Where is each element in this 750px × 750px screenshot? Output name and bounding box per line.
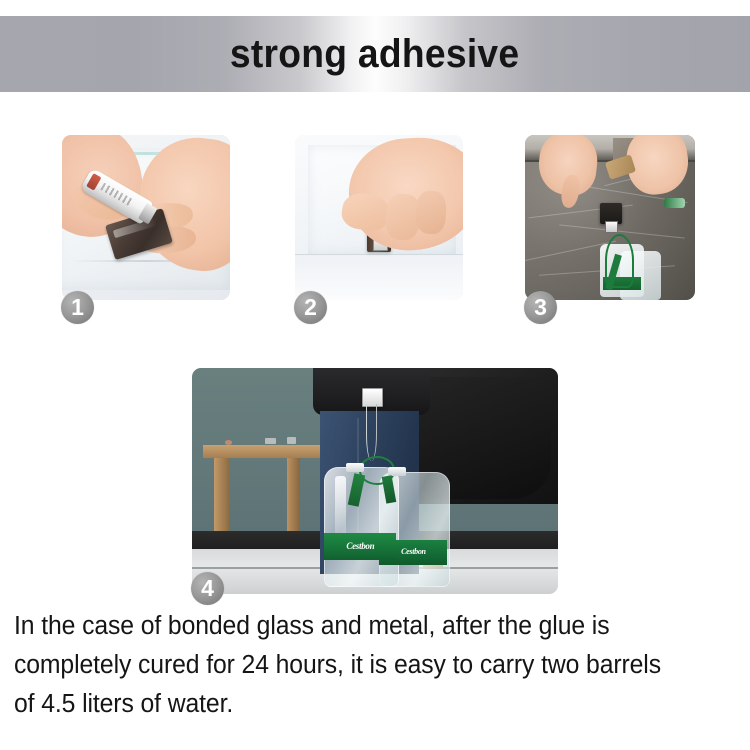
description-text: In the case of bonded glass and metal, a… [14, 607, 716, 724]
bottle-label-1: Cestbon [324, 533, 396, 560]
table-leg-2 [287, 458, 300, 530]
description-line-1: In the case of bonded glass and metal, a… [14, 607, 716, 646]
step-photo-3 [525, 135, 695, 300]
step-photo-1 [62, 135, 230, 300]
step-badge-1: 1 [61, 291, 94, 324]
step-3-image [525, 135, 695, 300]
step-4-image: Cestbon Cestbon [192, 368, 558, 594]
bottle-brand-text-1: Cestbon [346, 542, 374, 551]
step-photo-4: Cestbon Cestbon [192, 368, 558, 594]
step-badge-4: 4 [191, 572, 224, 605]
step-badge-2: 2 [294, 291, 327, 324]
finger-3 [415, 191, 447, 235]
wooden-table-top [203, 445, 324, 459]
step-1-image [62, 135, 230, 300]
step-badge-3: 3 [524, 291, 557, 324]
table-item-1 [265, 438, 276, 444]
glue-tube-stripe [86, 174, 101, 191]
step-2-image [295, 135, 463, 300]
table-item-2 [287, 437, 296, 444]
hook-plate [605, 221, 618, 233]
description-line-3: of 4.5 liters of water. [14, 685, 716, 724]
table-item-3 [225, 440, 232, 445]
bottle-brand-text-2: Cestbon [401, 548, 426, 556]
header-banner: strong adhesive [0, 16, 750, 92]
description-line-2: completely cured for 24 hours, it is eas… [14, 646, 716, 685]
page-title: strong adhesive [230, 34, 519, 74]
bottle-cap-1 [346, 463, 364, 472]
step-photo-2 [295, 135, 463, 300]
green-clip [664, 198, 684, 208]
